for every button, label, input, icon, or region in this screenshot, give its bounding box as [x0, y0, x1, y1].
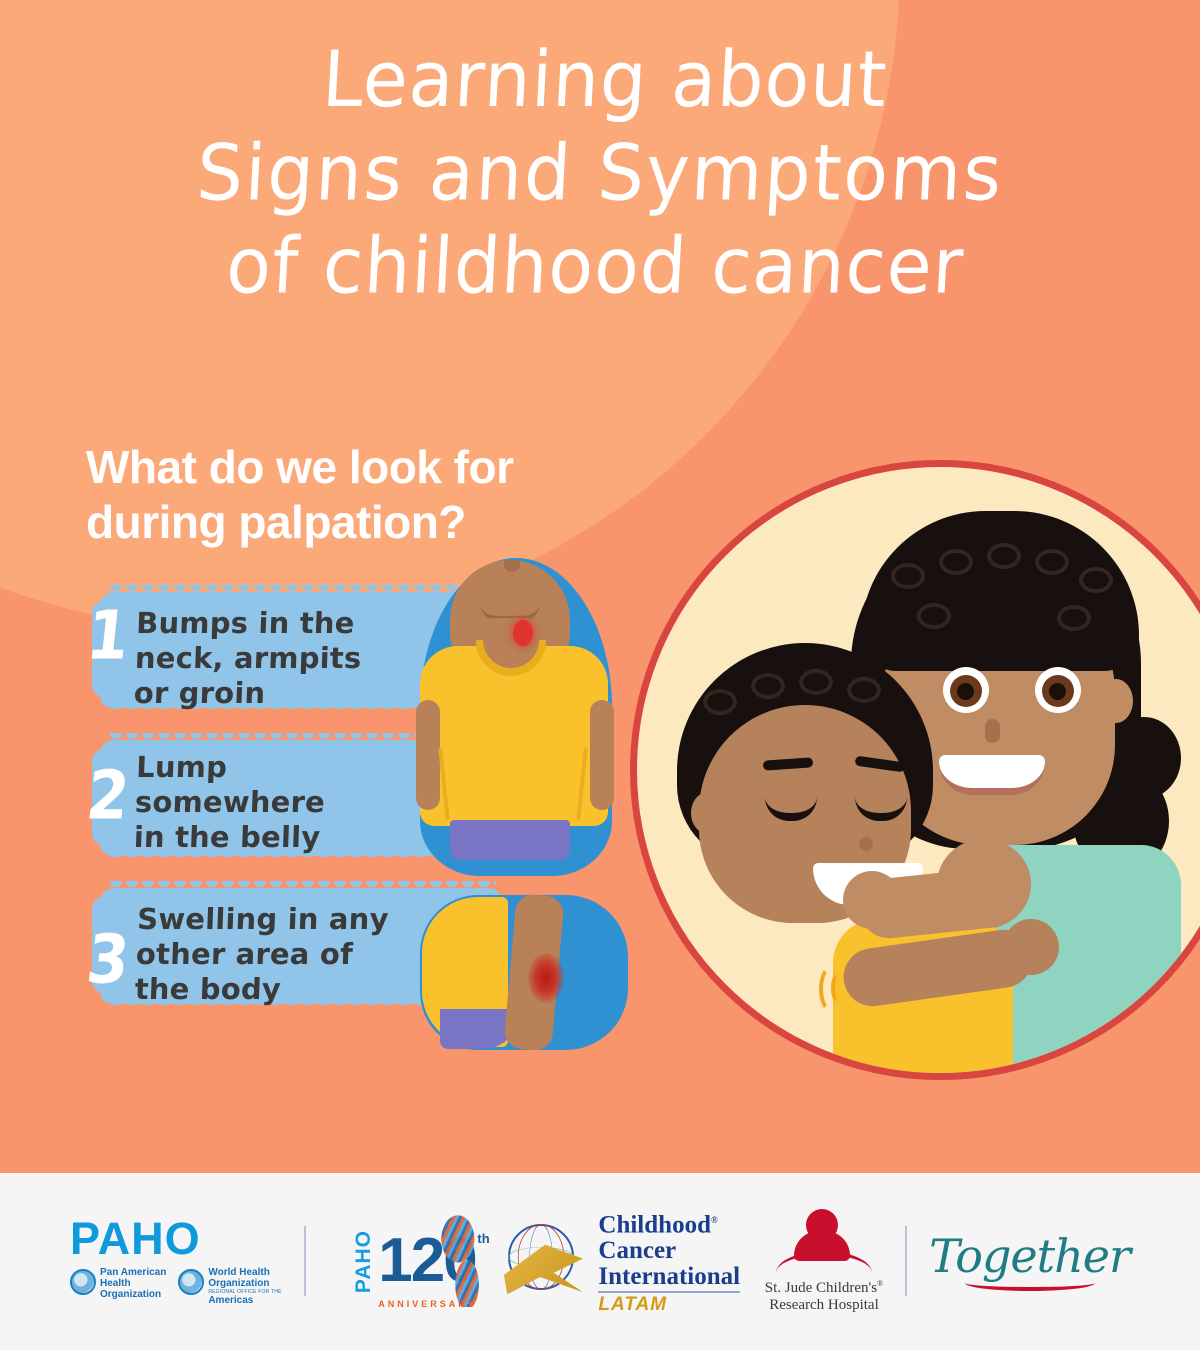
world-health-org: World Health Organization REGIONAL OFFIC…: [178, 1267, 281, 1306]
americas-map-icon: [410, 1215, 502, 1307]
who-org-text: World Health Organization REGIONAL OFFIC…: [208, 1267, 281, 1306]
who-seal-icon: [178, 1269, 204, 1295]
hair-curl-icon: [939, 549, 973, 575]
girl-hair-top: [861, 511, 1139, 671]
neck-lump-marker: [513, 620, 533, 646]
hair-curl-icon: [1057, 605, 1091, 631]
anniversary-label: ANNIVERSARY: [378, 1299, 476, 1309]
paho-logo: PAHO Pan American Health Organization: [70, 1217, 328, 1306]
together-swoosh-icon: [965, 1275, 1095, 1291]
list-item-line: Swelling in any: [137, 902, 493, 937]
st-jude-line-1: St. Jude Children's®: [765, 1275, 883, 1297]
list-item-line: other area of: [135, 937, 491, 972]
paho-org-line-2: Health: [100, 1278, 166, 1289]
registered-mark: ®: [711, 1215, 718, 1225]
paho-120-anniversary-logo: PAHO 120 th ANNIVERSARY: [352, 1215, 475, 1307]
cci-line-1: Childhood®: [598, 1207, 740, 1238]
boy-hand: [1003, 919, 1059, 975]
list-item-line: the body: [134, 972, 490, 1007]
who-org-line-2: Organization: [208, 1278, 281, 1289]
question-heading: What do we look for during palpation?: [86, 440, 646, 550]
anniversary-mark: PAHO 120 th ANNIVERSARY: [352, 1215, 475, 1307]
girl-pupil-right: [1049, 683, 1066, 700]
st-jude-line-1-text: St. Jude Children's: [765, 1280, 877, 1296]
question-line-1: What do we look for: [86, 440, 646, 495]
together-wordmark: Together: [929, 1231, 1130, 1281]
list-item-line: somewhere: [134, 785, 490, 820]
hair-curl-icon: [703, 689, 737, 715]
symptom-list: 1 Bumps in the neck, armpits or groin 2 …: [80, 592, 500, 1036]
pan-american-health-org: Pan American Health Organization: [70, 1267, 166, 1300]
paho-org-line-3: Organization: [100, 1289, 166, 1300]
infographic-poster: Learning about Signs and Symptoms of chi…: [0, 0, 1200, 1350]
st-jude-mark-block: St. Jude Children's® Research Hospital: [765, 1209, 883, 1314]
paho-org-text: Pan American Health Organization: [100, 1267, 166, 1300]
st-jude-logo: St. Jude Children's® Research Hospital T…: [765, 1209, 1130, 1314]
hair-curl-icon: [799, 669, 833, 695]
anniversary-paho-vertical: PAHO: [352, 1230, 376, 1293]
girl-nose: [985, 719, 1000, 743]
who-org-line-3: Americas: [208, 1295, 281, 1306]
paho-sublogos: Pan American Health Organization World H…: [70, 1267, 282, 1306]
list-item-text: Swelling in any other area of the body: [134, 902, 493, 1007]
list-item-line: neck, armpits: [134, 641, 490, 676]
hair-curl-icon: [751, 673, 785, 699]
list-item-line: Lump: [136, 750, 492, 785]
list-number: 1: [76, 602, 139, 669]
page-title: Learning about Signs and Symptoms of chi…: [0, 34, 1200, 314]
hair-curl-icon: [1079, 567, 1113, 593]
list-item-text: Lump somewhere in the belly: [133, 750, 492, 855]
question-line-2: during palpation?: [86, 495, 646, 550]
motion-lines-icon: [813, 965, 851, 1017]
paho-org-line-1: Pan American: [100, 1267, 166, 1278]
boy-nose: [859, 837, 873, 851]
girl-smile: [939, 755, 1045, 795]
logo-row: PAHO Pan American Health Organization: [30, 1207, 1170, 1316]
list-item-line: in the belly: [133, 820, 489, 855]
title-line-2: Signs and Symptoms: [0, 127, 1200, 220]
hair-curl-icon: [891, 563, 925, 589]
torso-arm-right: [590, 700, 614, 810]
list-item: 3 Swelling in any other area of the body: [80, 888, 500, 1006]
list-item-line: or groin: [133, 676, 489, 711]
registered-mark: ®: [877, 1279, 883, 1288]
together-logo: Together: [929, 1231, 1130, 1291]
st-jude-child-icon: [776, 1209, 872, 1271]
paho-seal-icon: [70, 1269, 96, 1295]
footer-logo-bar: PAHO Pan American Health Organization: [0, 1173, 1200, 1350]
who-org-line-1: World Health: [208, 1267, 281, 1278]
st-jude-text: St. Jude Children's® Research Hospital: [765, 1275, 883, 1314]
hair-curl-icon: [1035, 549, 1069, 575]
cci-latam-label: LATAM: [598, 1291, 740, 1316]
cci-text-block: Childhood® Cancer International LATAM: [598, 1207, 740, 1316]
title-line-3: of childhood cancer: [0, 221, 1198, 314]
list-item: 1 Bumps in the neck, armpits or groin: [80, 592, 500, 710]
hair-curl-icon: [847, 677, 881, 703]
girl-hand: [843, 871, 901, 929]
logo-divider: [905, 1226, 907, 1296]
brush-frill-top: [110, 881, 496, 893]
title-line-1: Learning about: [2, 34, 1200, 127]
list-item-line: Bumps in the: [136, 606, 492, 641]
cci-line-3: International: [598, 1264, 740, 1290]
hair-curl-icon: [917, 603, 951, 629]
child-arc-shape: [776, 1251, 872, 1273]
girl-pupil-left: [957, 683, 974, 700]
globe-ribbon-icon: [500, 1220, 586, 1302]
childhood-cancer-international-logo: Childhood® Cancer International LATAM: [500, 1207, 740, 1316]
list-item-text: Bumps in the neck, armpits or groin: [133, 606, 492, 711]
cci-line-2: Cancer: [598, 1238, 740, 1264]
list-item: 2 Lump somewhere in the belly: [80, 740, 500, 858]
leg-swelling-marker: [528, 953, 564, 1003]
logo-divider: [304, 1226, 306, 1296]
hair-curl-icon: [987, 543, 1021, 569]
list-number: 3: [76, 926, 139, 993]
cci-line-1-text: Childhood: [598, 1211, 711, 1238]
st-jude-line-2: Research Hospital: [765, 1297, 883, 1314]
list-number: 2: [76, 762, 139, 829]
paho-wordmark: PAHO: [70, 1217, 282, 1261]
